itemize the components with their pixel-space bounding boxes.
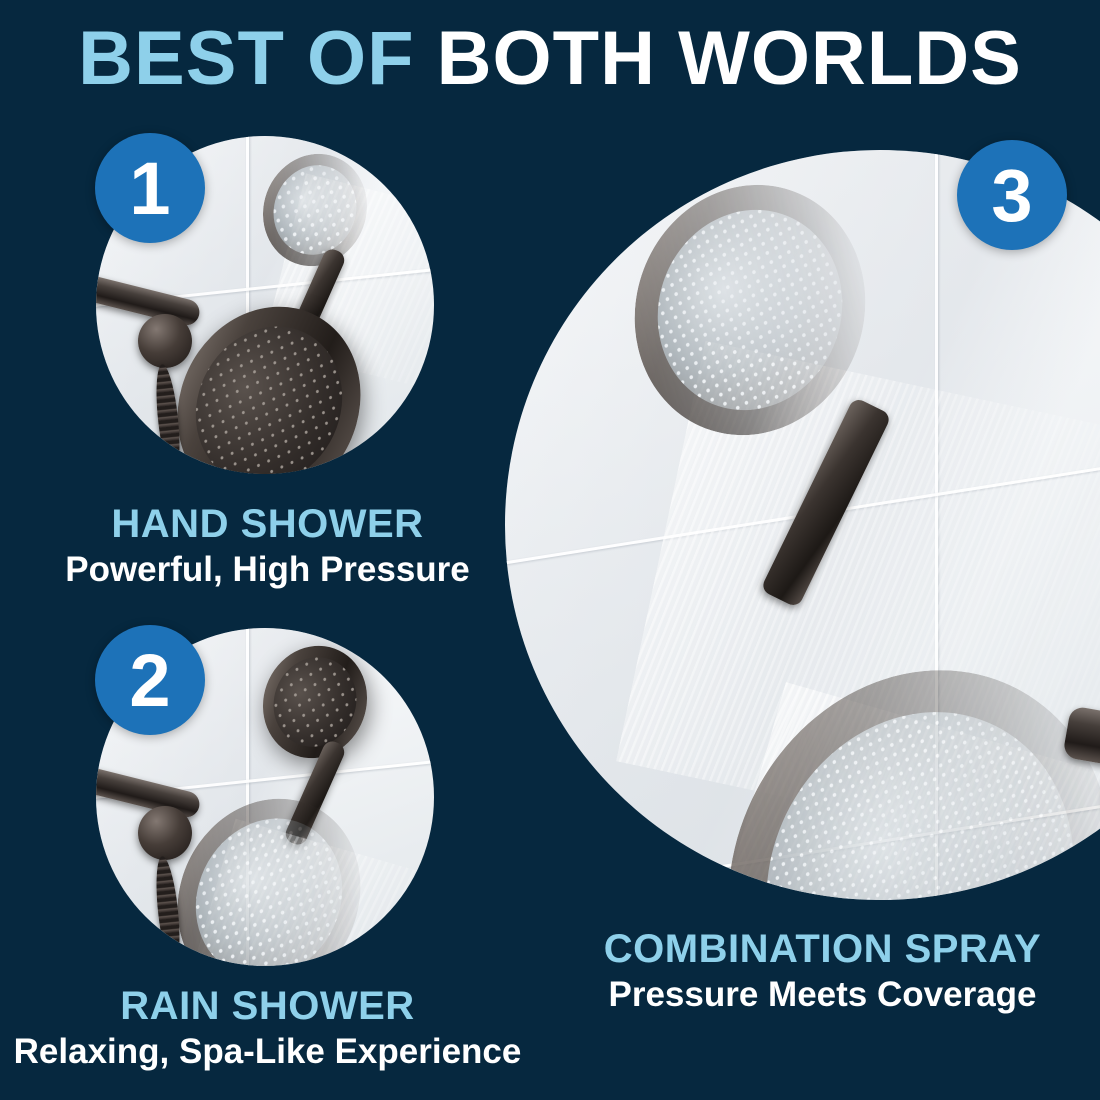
caption-hand-shower: HAND SHOWER Powerful, High Pressure [0,500,535,592]
diverter-valve [138,314,192,368]
grout-line-vertical [935,150,938,900]
grout-line-vertical [246,628,249,966]
step-badge-1: 1 [95,133,205,243]
caption-rain-shower: RAIN SHOWER Relaxing, Spa-Like Experienc… [0,982,535,1074]
step-badge-1-number: 1 [129,146,170,231]
caption-combination-spray: COMBINATION SPRAY Pressure Meets Coverag… [545,925,1100,1017]
caption-rain-shower-headline: RAIN SHOWER [0,982,535,1030]
step-badge-2-number: 2 [129,638,170,723]
panel-combination-spray-photo [505,150,1100,900]
title-part-two: BOTH WORLDS [437,16,1022,101]
step-badge-3-number: 3 [991,153,1032,238]
infographic-canvas: BEST OF BOTH WORLDS [0,0,1100,1100]
caption-rain-shower-subtext: Relaxing, Spa-Like Experience [0,1030,535,1074]
title-part-one: BEST OF [78,16,414,101]
caption-combination-spray-subtext: Pressure Meets Coverage [545,973,1100,1017]
caption-hand-shower-headline: HAND SHOWER [0,500,535,548]
diverter-valve [138,806,192,860]
step-badge-3: 3 [957,140,1067,250]
step-badge-2: 2 [95,625,205,735]
page-title: BEST OF BOTH WORLDS [0,16,1100,102]
caption-combination-spray-headline: COMBINATION SPRAY [545,925,1100,973]
combination-spray-image [505,150,1100,900]
caption-hand-shower-subtext: Powerful, High Pressure [0,548,535,592]
